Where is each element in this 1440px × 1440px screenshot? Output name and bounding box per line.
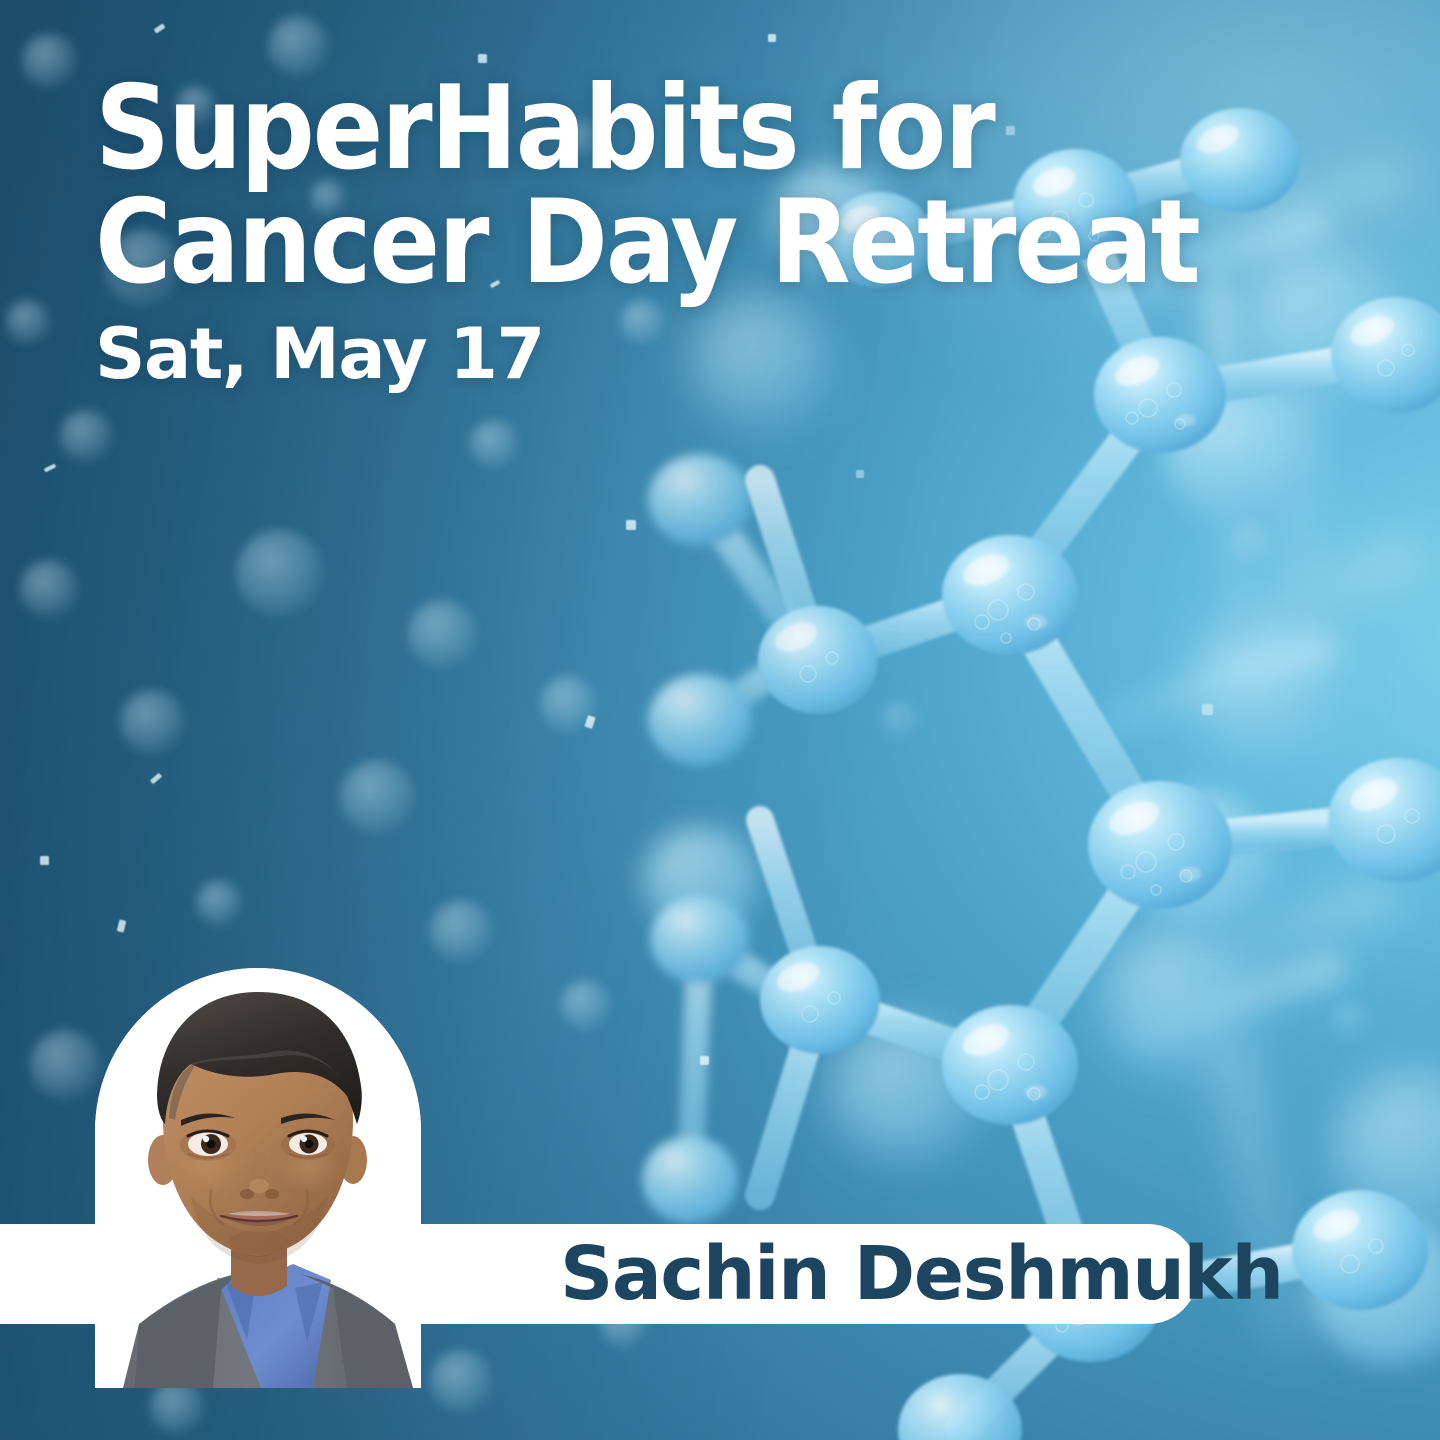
event-promo-card: SuperHabits for Cancer Day Retreat Sat, …: [0, 0, 1440, 1440]
page-title: SuperHabits for Cancer Day Retreat: [95, 72, 1245, 299]
headline-line-2: Cancer Day Retreat: [95, 186, 1245, 300]
avatar: [95, 968, 421, 1388]
speaker-portrait-photo: [95, 968, 421, 1388]
event-date: Sat, May 17: [95, 319, 1245, 389]
speaker-name: Sachin Deshmukh: [560, 1224, 1283, 1324]
title-block: SuperHabits for Cancer Day Retreat Sat, …: [95, 72, 1245, 389]
